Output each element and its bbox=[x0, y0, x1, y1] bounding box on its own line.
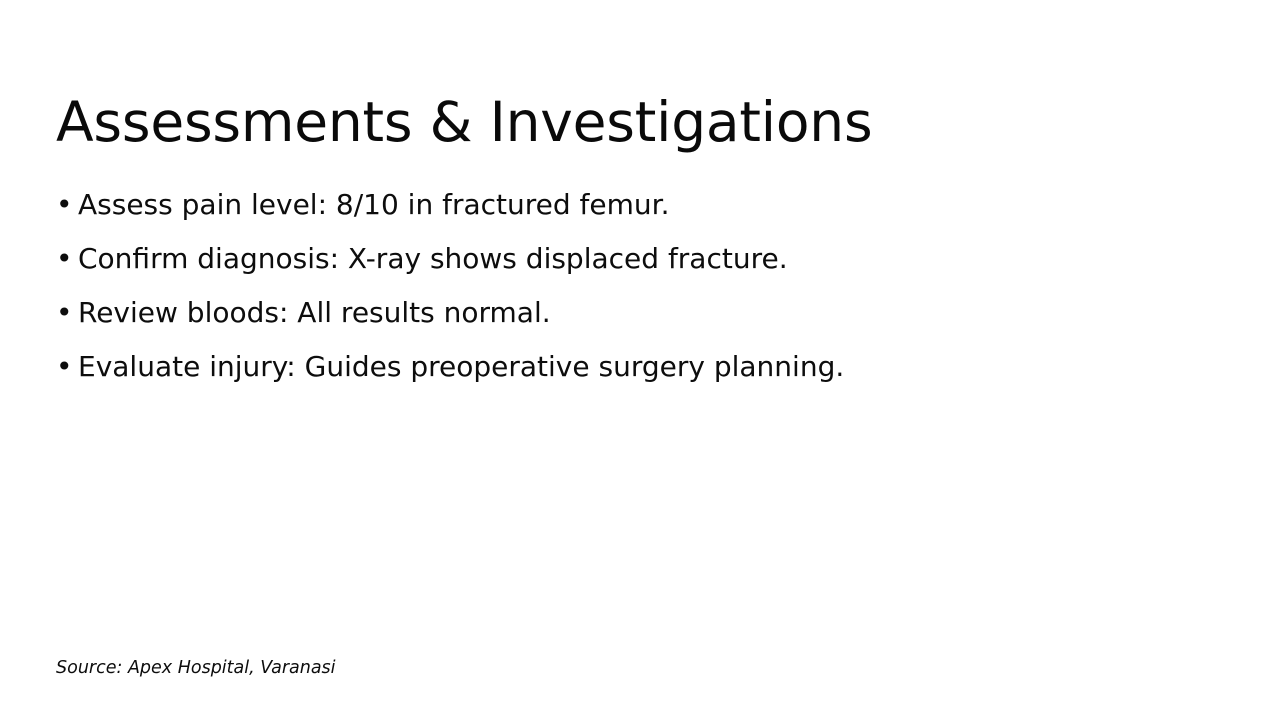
bullet-point-icon: • bbox=[56, 185, 78, 225]
slide-canvas: Assessments & Investigations • Assess pa… bbox=[0, 0, 1280, 720]
list-item-label: Review bloods: All results normal. bbox=[78, 293, 551, 333]
source-attribution: Source: Apex Hospital, Varanasi bbox=[56, 656, 336, 680]
bullet-point-icon: • bbox=[56, 347, 78, 387]
list-item-label: Confirm diagnosis: X-ray shows displaced… bbox=[78, 239, 788, 279]
list-item: • Assess pain level: 8/10 in fractured f… bbox=[56, 185, 1176, 239]
list-item-label: Evaluate injury: Guides preoperative sur… bbox=[78, 347, 844, 387]
bullet-point-icon: • bbox=[56, 239, 78, 279]
bullet-list: • Assess pain level: 8/10 in fractured f… bbox=[56, 185, 1176, 401]
bullet-point-icon: • bbox=[56, 293, 78, 333]
list-item: • Confirm diagnosis: X-ray shows displac… bbox=[56, 239, 1176, 293]
list-item-label: Assess pain level: 8/10 in fractured fem… bbox=[78, 185, 670, 225]
list-item: • Evaluate injury: Guides preoperative s… bbox=[56, 347, 1176, 401]
list-item: • Review bloods: All results normal. bbox=[56, 293, 1176, 347]
page-title: Assessments & Investigations bbox=[56, 89, 1156, 155]
